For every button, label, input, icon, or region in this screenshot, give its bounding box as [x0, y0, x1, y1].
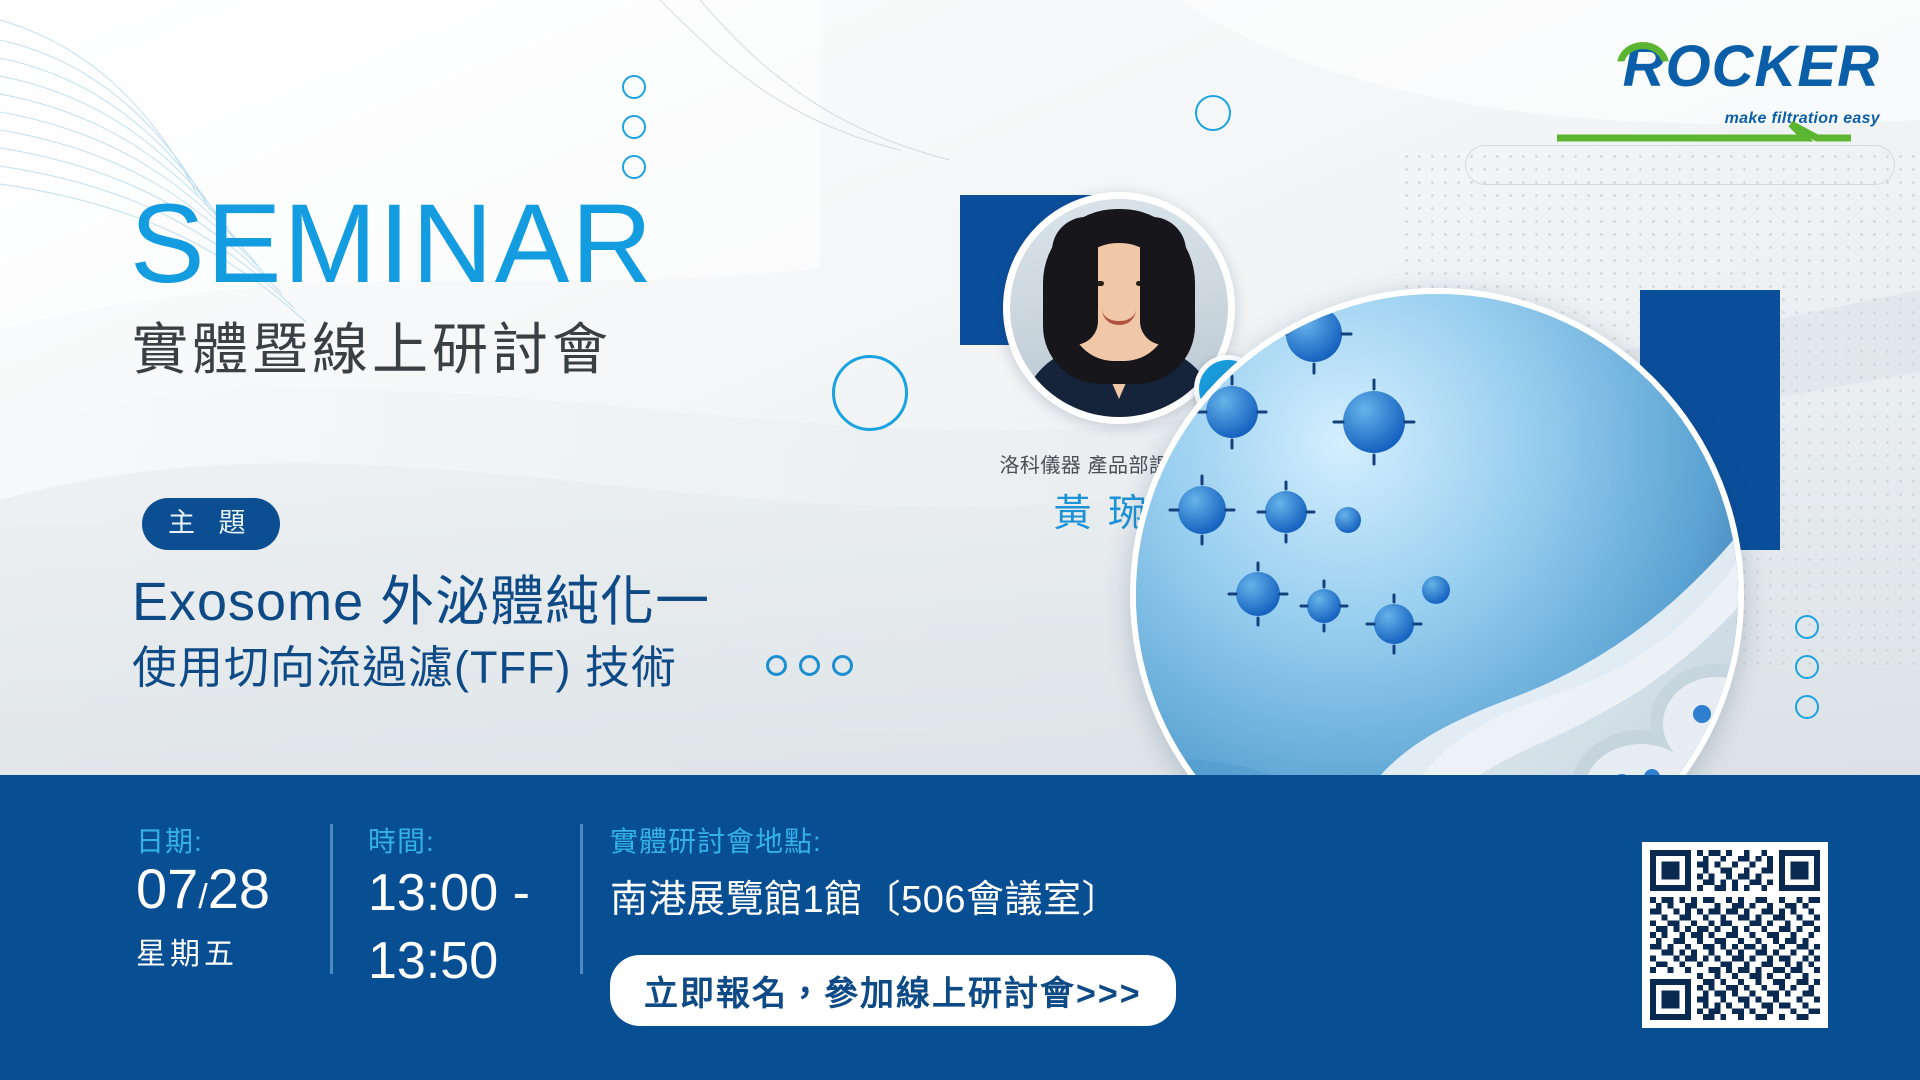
seminar-banner: ROCKER make filtration easy SEMINAR 實體暨線…: [0, 0, 1920, 1080]
time-end: 13:50: [368, 928, 568, 996]
venue-block: 實體研討會地點: 南港展覽館1館〔506會議室〕: [610, 820, 1350, 923]
venue-value: 南港展覽館1館〔506會議室〕: [610, 868, 1350, 923]
decor-dot: [832, 655, 853, 676]
decor-ring: [1195, 95, 1231, 131]
date-day: 28: [208, 857, 270, 920]
logo-swoosh-icon: [1555, 120, 1855, 142]
decor-dot: [799, 655, 820, 676]
decor-ring: [622, 75, 646, 99]
decor-ring: [1795, 695, 1819, 719]
avatar-hair-front-left: [1052, 217, 1098, 345]
logo-wordmark: ROCKER: [1623, 38, 1880, 96]
date-block: 日期: 07/28 星期五: [136, 820, 346, 973]
decor-ring: [1795, 655, 1819, 679]
qr-code[interactable]: [1642, 842, 1828, 1028]
venue-label: 實體研討會地點:: [610, 820, 1350, 860]
date-label: 日期:: [136, 820, 346, 860]
time-label: 時間:: [368, 820, 568, 860]
qr-code-graphic: [1650, 850, 1820, 1020]
time-start: 13:00 -: [368, 860, 568, 928]
decor-dot: [766, 655, 787, 676]
speaker-role: 洛科儀器 產品部課長: [930, 449, 1190, 478]
header-capsule-decoration: [1465, 145, 1895, 185]
divider: [580, 824, 583, 974]
page-title-zh: 實體暨線上研討會: [132, 322, 612, 378]
avatar-hair-front-right: [1140, 217, 1186, 345]
decor-ring: [622, 155, 646, 179]
decor-ring: [832, 355, 908, 431]
page-title-en: SEMINAR: [130, 188, 654, 300]
time-block: 時間: 13:00 - 13:50: [368, 820, 568, 995]
decor-ring: [1795, 615, 1819, 639]
topic-title-line2: 使用切向流過濾(TFF) 技術: [132, 645, 677, 690]
divider: [330, 824, 333, 974]
rocker-logo: ROCKER make filtration easy: [1550, 38, 1880, 128]
date-month: 07: [136, 857, 198, 920]
topic-badge: 主 題: [142, 498, 280, 550]
weekday-value: 星期五: [136, 929, 346, 973]
decor-ring: [622, 115, 646, 139]
date-value: 07/28: [136, 860, 346, 919]
register-button[interactable]: 立即報名，參加線上研討會>>>: [610, 955, 1176, 1026]
topic-title-line1: Exosome 外泌體純化一: [132, 575, 710, 629]
date-separator: /: [198, 878, 207, 916]
